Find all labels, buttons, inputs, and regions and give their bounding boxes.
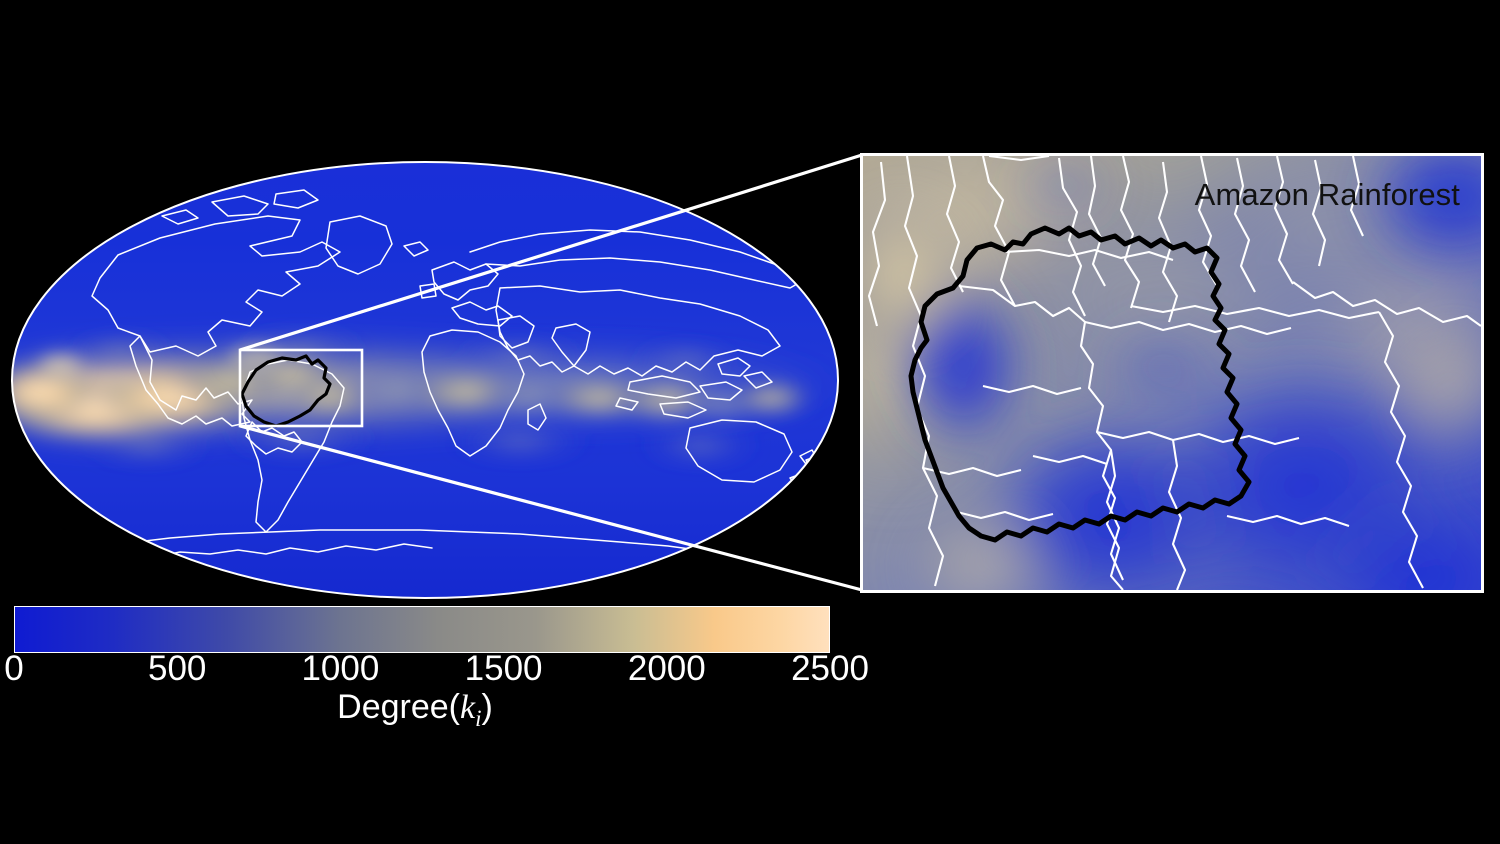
colorbar-tick-2000: 2000: [628, 649, 706, 689]
colorbar-label-text: Degree(: [337, 688, 460, 726]
colorbar-tick-0: 0: [4, 649, 23, 689]
colorbar-tick-2500: 2500: [791, 649, 869, 689]
colorbar-tick-labels: 05001000150020002500: [14, 653, 830, 693]
figure-root: Amazon Rainforest 05001000150020002500 D…: [0, 0, 1500, 844]
global-degree-map: [0, 160, 852, 610]
colorbar-tick-1000: 1000: [301, 649, 379, 689]
degree-colorbar: 05001000150020002500: [14, 606, 830, 693]
global-map-svg: [0, 160, 852, 610]
colorbar-label-symbol: k: [460, 689, 475, 726]
colorbar-label-close: ): [482, 688, 493, 726]
amazon-inset-map: Amazon Rainforest: [860, 153, 1484, 593]
colorbar-tick-1500: 1500: [465, 649, 543, 689]
inset-degree-field: [863, 156, 1481, 590]
colorbar-gradient: [14, 606, 830, 653]
colorbar-tick-500: 500: [148, 649, 206, 689]
amazon-inset-svg: [863, 156, 1481, 590]
colorbar-axis-label: Degree(ki): [0, 688, 830, 732]
